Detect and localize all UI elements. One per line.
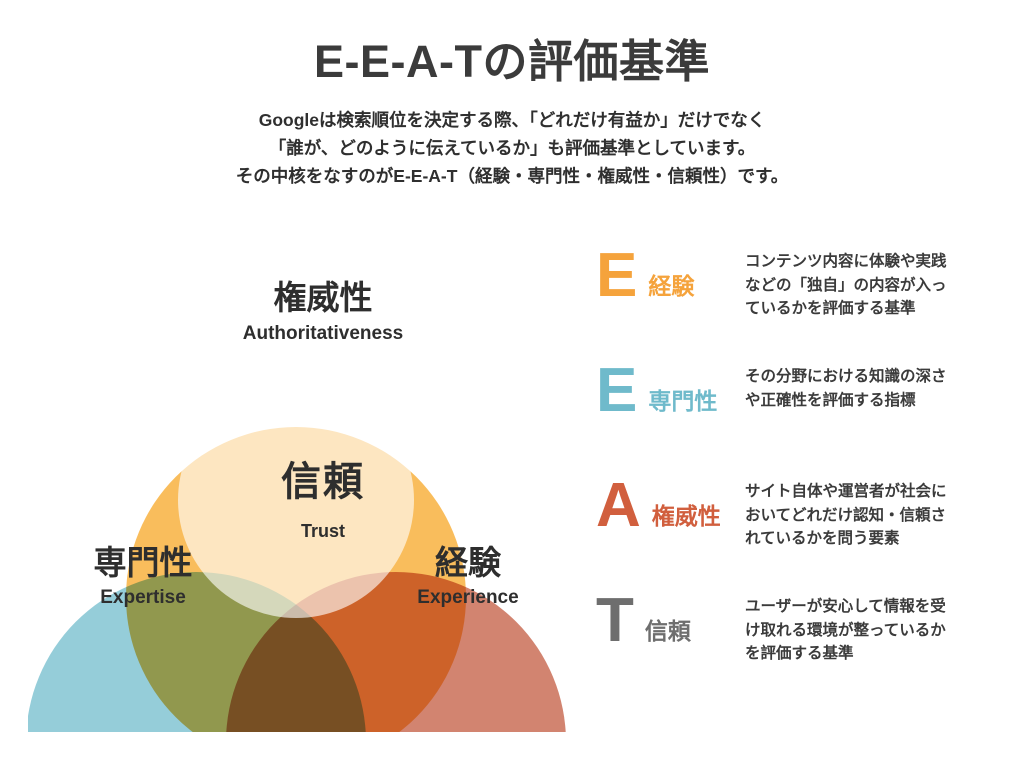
criterion-description-line: その分野における知識の深さ — [745, 365, 1010, 389]
subtitle-line: Googleは検索順位を決定する際、「どれだけ有益か」だけでなく — [0, 106, 1024, 134]
page-title: E-E-A-Tの評価基準 — [0, 0, 1024, 88]
criterion-letter: A — [596, 478, 641, 534]
criterion-letter: E — [596, 248, 637, 304]
criterion-item-expertise: E 専門性 その分野における知識の深さ や正確性を評価する指標 — [590, 359, 1010, 474]
criteria-list: E 経験 コンテンツ内容に体験や実践 などの「独自」の内容が入っ ているかを評価… — [590, 244, 1010, 704]
criterion-description-line: れているかを問う要素 — [745, 527, 1010, 551]
criterion-letter-group: E 専門性 — [590, 359, 745, 419]
criterion-label: 専門性 — [648, 382, 717, 416]
criterion-description-line: ユーザーが安心して情報を受 — [745, 595, 1010, 619]
criterion-letter-group: A 権威性 — [590, 474, 745, 534]
criterion-letter-group: E 経験 — [590, 244, 745, 304]
subtitle-line: その中核をなすのがE-E-A-T（経験・専門性・権威性・信頼性）です。 — [0, 162, 1024, 190]
criterion-description-line: け取れる環境が整っているか — [745, 619, 1010, 643]
criterion-description-line: ているかを評価する基準 — [745, 297, 1010, 321]
subtitle: Googleは検索順位を決定する際、「どれだけ有益か」だけでなく 「誰が、どのよ… — [0, 88, 1024, 191]
criterion-description: コンテンツ内容に体験や実践 などの「独自」の内容が入っ ているかを評価する基準 — [745, 244, 1010, 321]
subtitle-line: 「誰が、どのように伝えているか」も評価基準としています。 — [0, 134, 1024, 162]
criterion-letter-group: T 信頼 — [590, 589, 745, 649]
criterion-description-line: サイト自体や運営者が社会に — [745, 480, 1010, 504]
criterion-item-authoritativeness: A 権威性 サイト自体や運営者が社会に おいてどれだけ認知・信頼さ れているかを… — [590, 474, 1010, 589]
criterion-description: ユーザーが安心して情報を受 け取れる環境が整っているか を評価する基準 — [745, 589, 1010, 666]
criterion-label: 経験 — [648, 267, 694, 301]
criterion-description: その分野における知識の深さ や正確性を評価する指標 — [745, 359, 1010, 412]
criterion-item-trust: T 信頼 ユーザーが安心して情報を受 け取れる環境が整っているか を評価する基準 — [590, 589, 1010, 704]
criterion-description-line: コンテンツ内容に体験や実践 — [745, 250, 1010, 274]
criterion-description-line: を評価する基準 — [745, 642, 1010, 666]
criterion-label: 信頼 — [645, 612, 691, 646]
venn-svg — [28, 232, 568, 732]
criterion-description-line: などの「独自」の内容が入っ — [745, 274, 1010, 298]
criterion-description-line: おいてどれだけ認知・信頼さ — [745, 504, 1010, 528]
criterion-item-experience: E 経験 コンテンツ内容に体験や実践 などの「独自」の内容が入っ ているかを評価… — [590, 244, 1010, 359]
criterion-description-line: や正確性を評価する指標 — [745, 389, 1010, 413]
criterion-description: サイト自体や運営者が社会に おいてどれだけ認知・信頼さ れているかを問う要素 — [745, 474, 1010, 551]
venn-circle-trust — [178, 382, 414, 618]
criterion-label: 権威性 — [652, 497, 721, 531]
venn-diagram: 権威性 Authoritativeness 専門性 Expertise 経験 E… — [28, 232, 568, 732]
criterion-letter: E — [596, 363, 637, 419]
criterion-letter: T — [596, 593, 634, 649]
header: E-E-A-Tの評価基準 Googleは検索順位を決定する際、「どれだけ有益か」… — [0, 0, 1024, 191]
